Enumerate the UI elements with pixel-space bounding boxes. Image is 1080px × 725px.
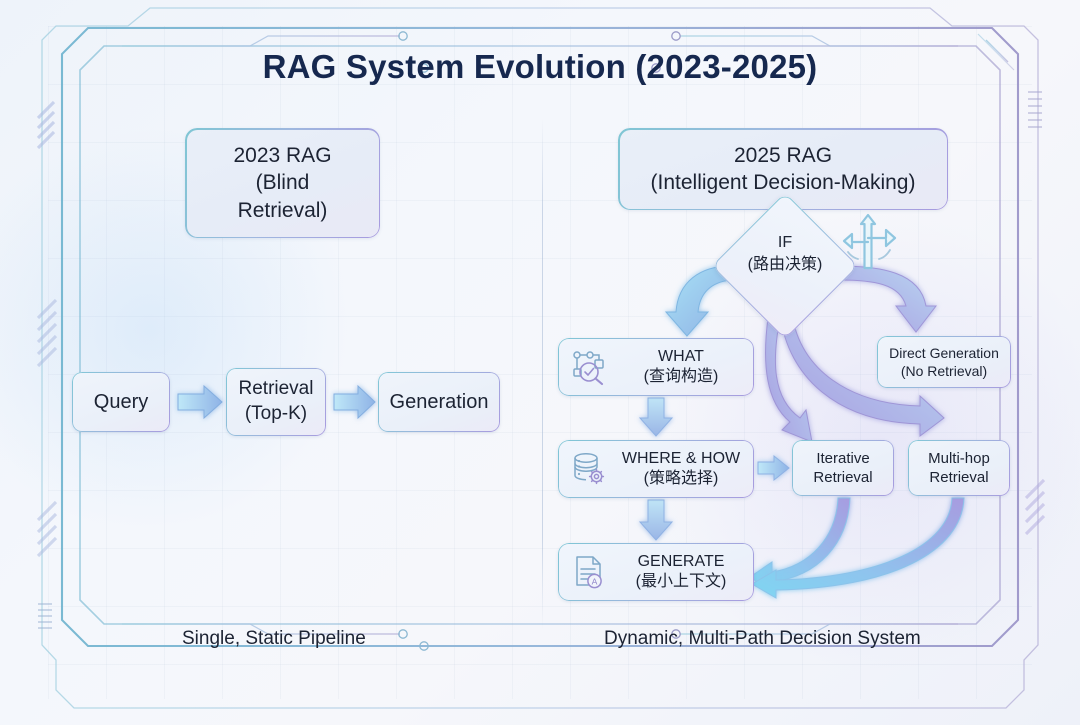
step-what-line2: (查询构造) [618,367,744,387]
step-where-how: WHERE & HOW (策略选择) [558,440,754,498]
step-generate-line2: (最小上下文) [618,572,744,592]
node-generation: Generation [378,372,500,432]
svg-text:A: A [592,576,598,586]
document-a-icon: A [568,551,610,593]
node-retrieval: Retrieval (Top-K) [226,368,326,436]
header-2025-rag: 2025 RAG (Intelligent Decision-Making) [618,128,948,210]
node-iterative-line1: Iterative [813,449,872,469]
database-gear-icon [568,448,610,490]
page-title: RAG System Evolution (2023-2025) [0,48,1080,86]
node-iterative-line2: Retrieval [813,468,872,488]
node-generation-label: Generation [390,389,489,415]
node-direct-line1: Direct Generation [889,344,999,362]
step-generate: A GENERATE (最小上下文) [558,543,754,601]
header-2025-line1: 2025 RAG [642,142,925,170]
caption-right: Dynamic, Multi-Path Decision System [604,628,921,650]
header-2025-line2: (Intelligent Decision-Making) [642,169,925,197]
step-where-line2: (策略选择) [618,469,744,489]
header-2023-line2: (Blind Retrieval) [209,169,357,224]
panel-divider [542,118,543,630]
node-multihop-line2: Retrieval [928,468,990,488]
step-what-line1: WHAT [618,347,744,367]
node-multihop-retrieval: Multi-hop Retrieval [908,440,1010,496]
step-generate-line1: GENERATE [618,552,744,572]
header-2023-rag: 2023 RAG (Blind Retrieval) [185,128,380,238]
step-what: WHAT (查询构造) [558,338,754,396]
caption-left: Single, Static Pipeline [182,628,366,650]
node-retrieval-line2: (Top-K) [239,402,314,427]
node-direct-generation: Direct Generation (No Retrieval) [877,336,1011,388]
node-direct-line2: (No Retrieval) [889,362,999,380]
node-retrieval-line1: Retrieval [239,377,314,402]
node-iterative-retrieval: Iterative Retrieval [792,440,894,496]
node-query: Query [72,372,170,432]
header-2023-line1: 2023 RAG [209,142,357,170]
node-multihop-line1: Multi-hop [928,449,990,469]
diagram-canvas: RAG System Evolution (2023-2025) 2023 RA… [0,0,1080,725]
flowchart-search-icon [568,346,610,388]
three-way-arrow-icon [832,208,904,272]
node-query-label: Query [94,389,148,415]
step-where-line1: WHERE & HOW [618,449,744,469]
